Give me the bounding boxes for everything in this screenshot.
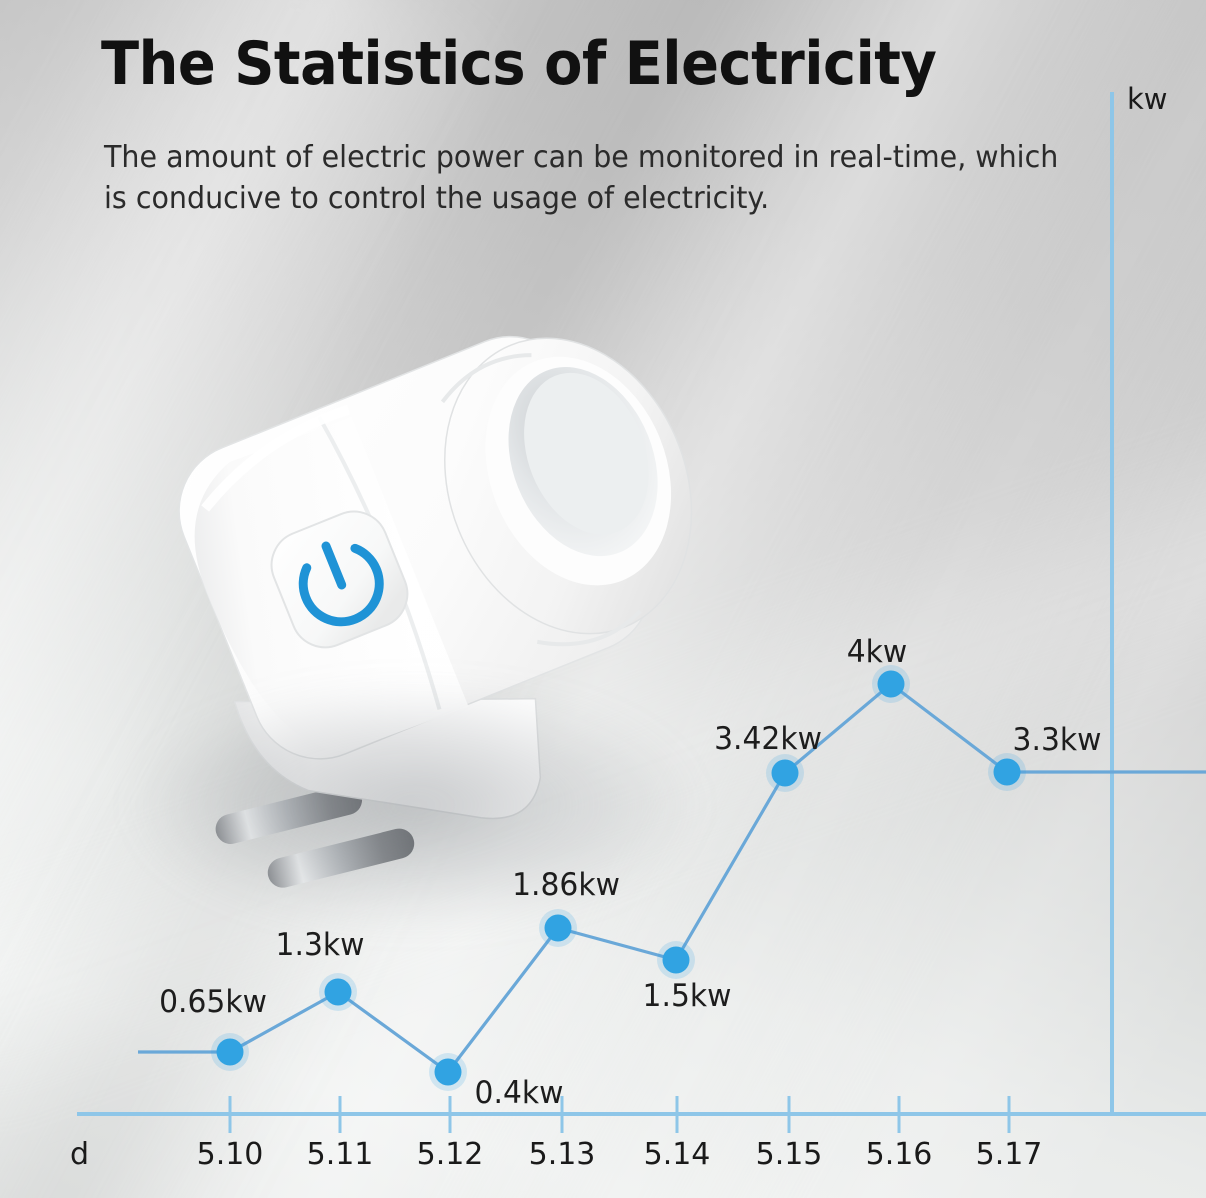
y-axis-unit-label: kw: [1127, 82, 1168, 116]
product-infographic: The Statistics of Electricity The amount…: [0, 0, 1206, 1198]
x-axis-tick-label: 5.16: [866, 1137, 933, 1172]
data-point-marker[interactable]: [994, 759, 1021, 786]
data-point-marker[interactable]: [772, 760, 799, 787]
data-point-label: 1.5kw: [643, 978, 732, 1014]
data-point-label: 1.86kw: [512, 867, 620, 903]
data-point-marker[interactable]: [217, 1039, 244, 1066]
data-point-label: 4kw: [847, 634, 908, 670]
x-axis-unit-label: d: [70, 1137, 89, 1172]
x-axis-tick-label: 5.10: [197, 1137, 264, 1172]
x-axis-tick-label: 5.15: [756, 1137, 823, 1172]
data-point-marker[interactable]: [878, 671, 905, 698]
x-axis-tick-label: 5.17: [976, 1137, 1043, 1172]
x-axis-tick-label: 5.13: [529, 1137, 596, 1172]
data-point-label: 3.3kw: [1013, 722, 1102, 758]
data-point-marker[interactable]: [325, 979, 352, 1006]
data-point-label: 1.3kw: [276, 927, 365, 963]
data-point-label: 3.42kw: [714, 721, 822, 757]
x-axis-tick-label: 5.14: [644, 1137, 711, 1172]
data-point-label: 0.65kw: [159, 984, 267, 1020]
data-point-marker[interactable]: [435, 1059, 462, 1086]
data-point-marker[interactable]: [545, 915, 572, 942]
x-axis-tick-label: 5.11: [307, 1137, 374, 1172]
data-point-label: 0.4kw: [475, 1075, 564, 1111]
data-point-marker[interactable]: [663, 947, 690, 974]
x-axis-tick-label: 5.12: [417, 1137, 484, 1172]
